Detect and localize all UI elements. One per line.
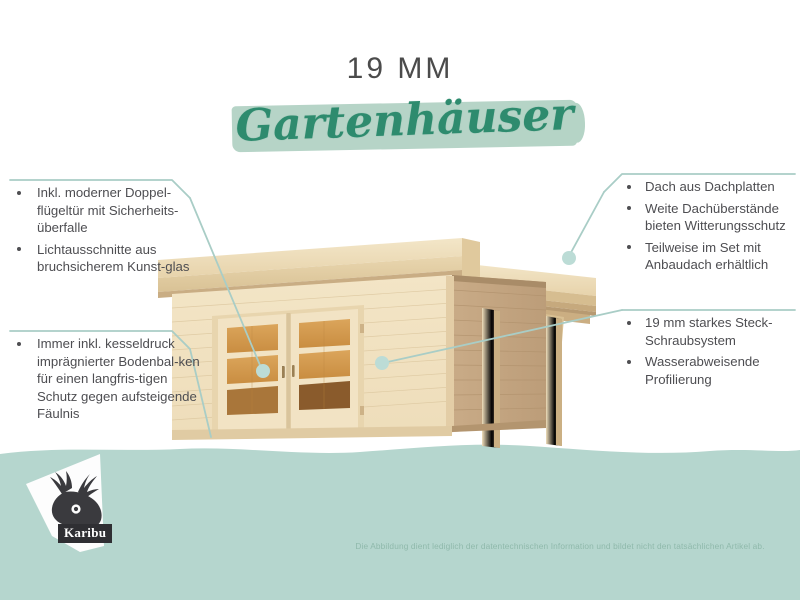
list-item: Lichtausschnitte aus bruchsicherem Kunst… [10, 241, 200, 276]
infographic-canvas: 19 MM Gartenhäuser Inkl. moderner Doppel… [0, 0, 800, 600]
logo-wordmark: Karibu [58, 524, 112, 543]
footer-disclaimer: Die Abbildung dient lediglich der datent… [330, 541, 790, 551]
callout-floor-beam-features: Immer inkl. kesseldruck imprägnierter Bo… [10, 335, 202, 427]
list-item: Wasserabweisende Profilierung [620, 353, 800, 388]
callout-door-features: Inkl. moderner Doppel-flügeltür mit Sich… [10, 184, 200, 280]
list-item: Teilweise im Set mit Anbaudach erhältlic… [620, 239, 800, 274]
karibu-logo: Karibu [22, 448, 132, 563]
list-item: 19 mm starkes Steck-Schraubsystem [620, 314, 800, 349]
thickness-headline: 19 MM [0, 52, 800, 86]
product-title-block: Gartenhäuser [232, 95, 577, 157]
list-item: Dach aus Dachplatten [620, 178, 800, 196]
callout-roof-features: Dach aus Dachplatten Weite Dachüberständ… [620, 178, 800, 278]
list-item: Weite Dachüberstände bieten Witterungssc… [620, 200, 800, 235]
list-item: Immer inkl. kesseldruck imprägnierter Bo… [10, 335, 202, 423]
callout-wall-system-features: 19 mm starkes Steck-Schraubsystem Wasser… [620, 314, 800, 392]
garden-house-illustration [150, 220, 620, 460]
list-item: Inkl. moderner Doppel-flügeltür mit Sich… [10, 184, 200, 237]
